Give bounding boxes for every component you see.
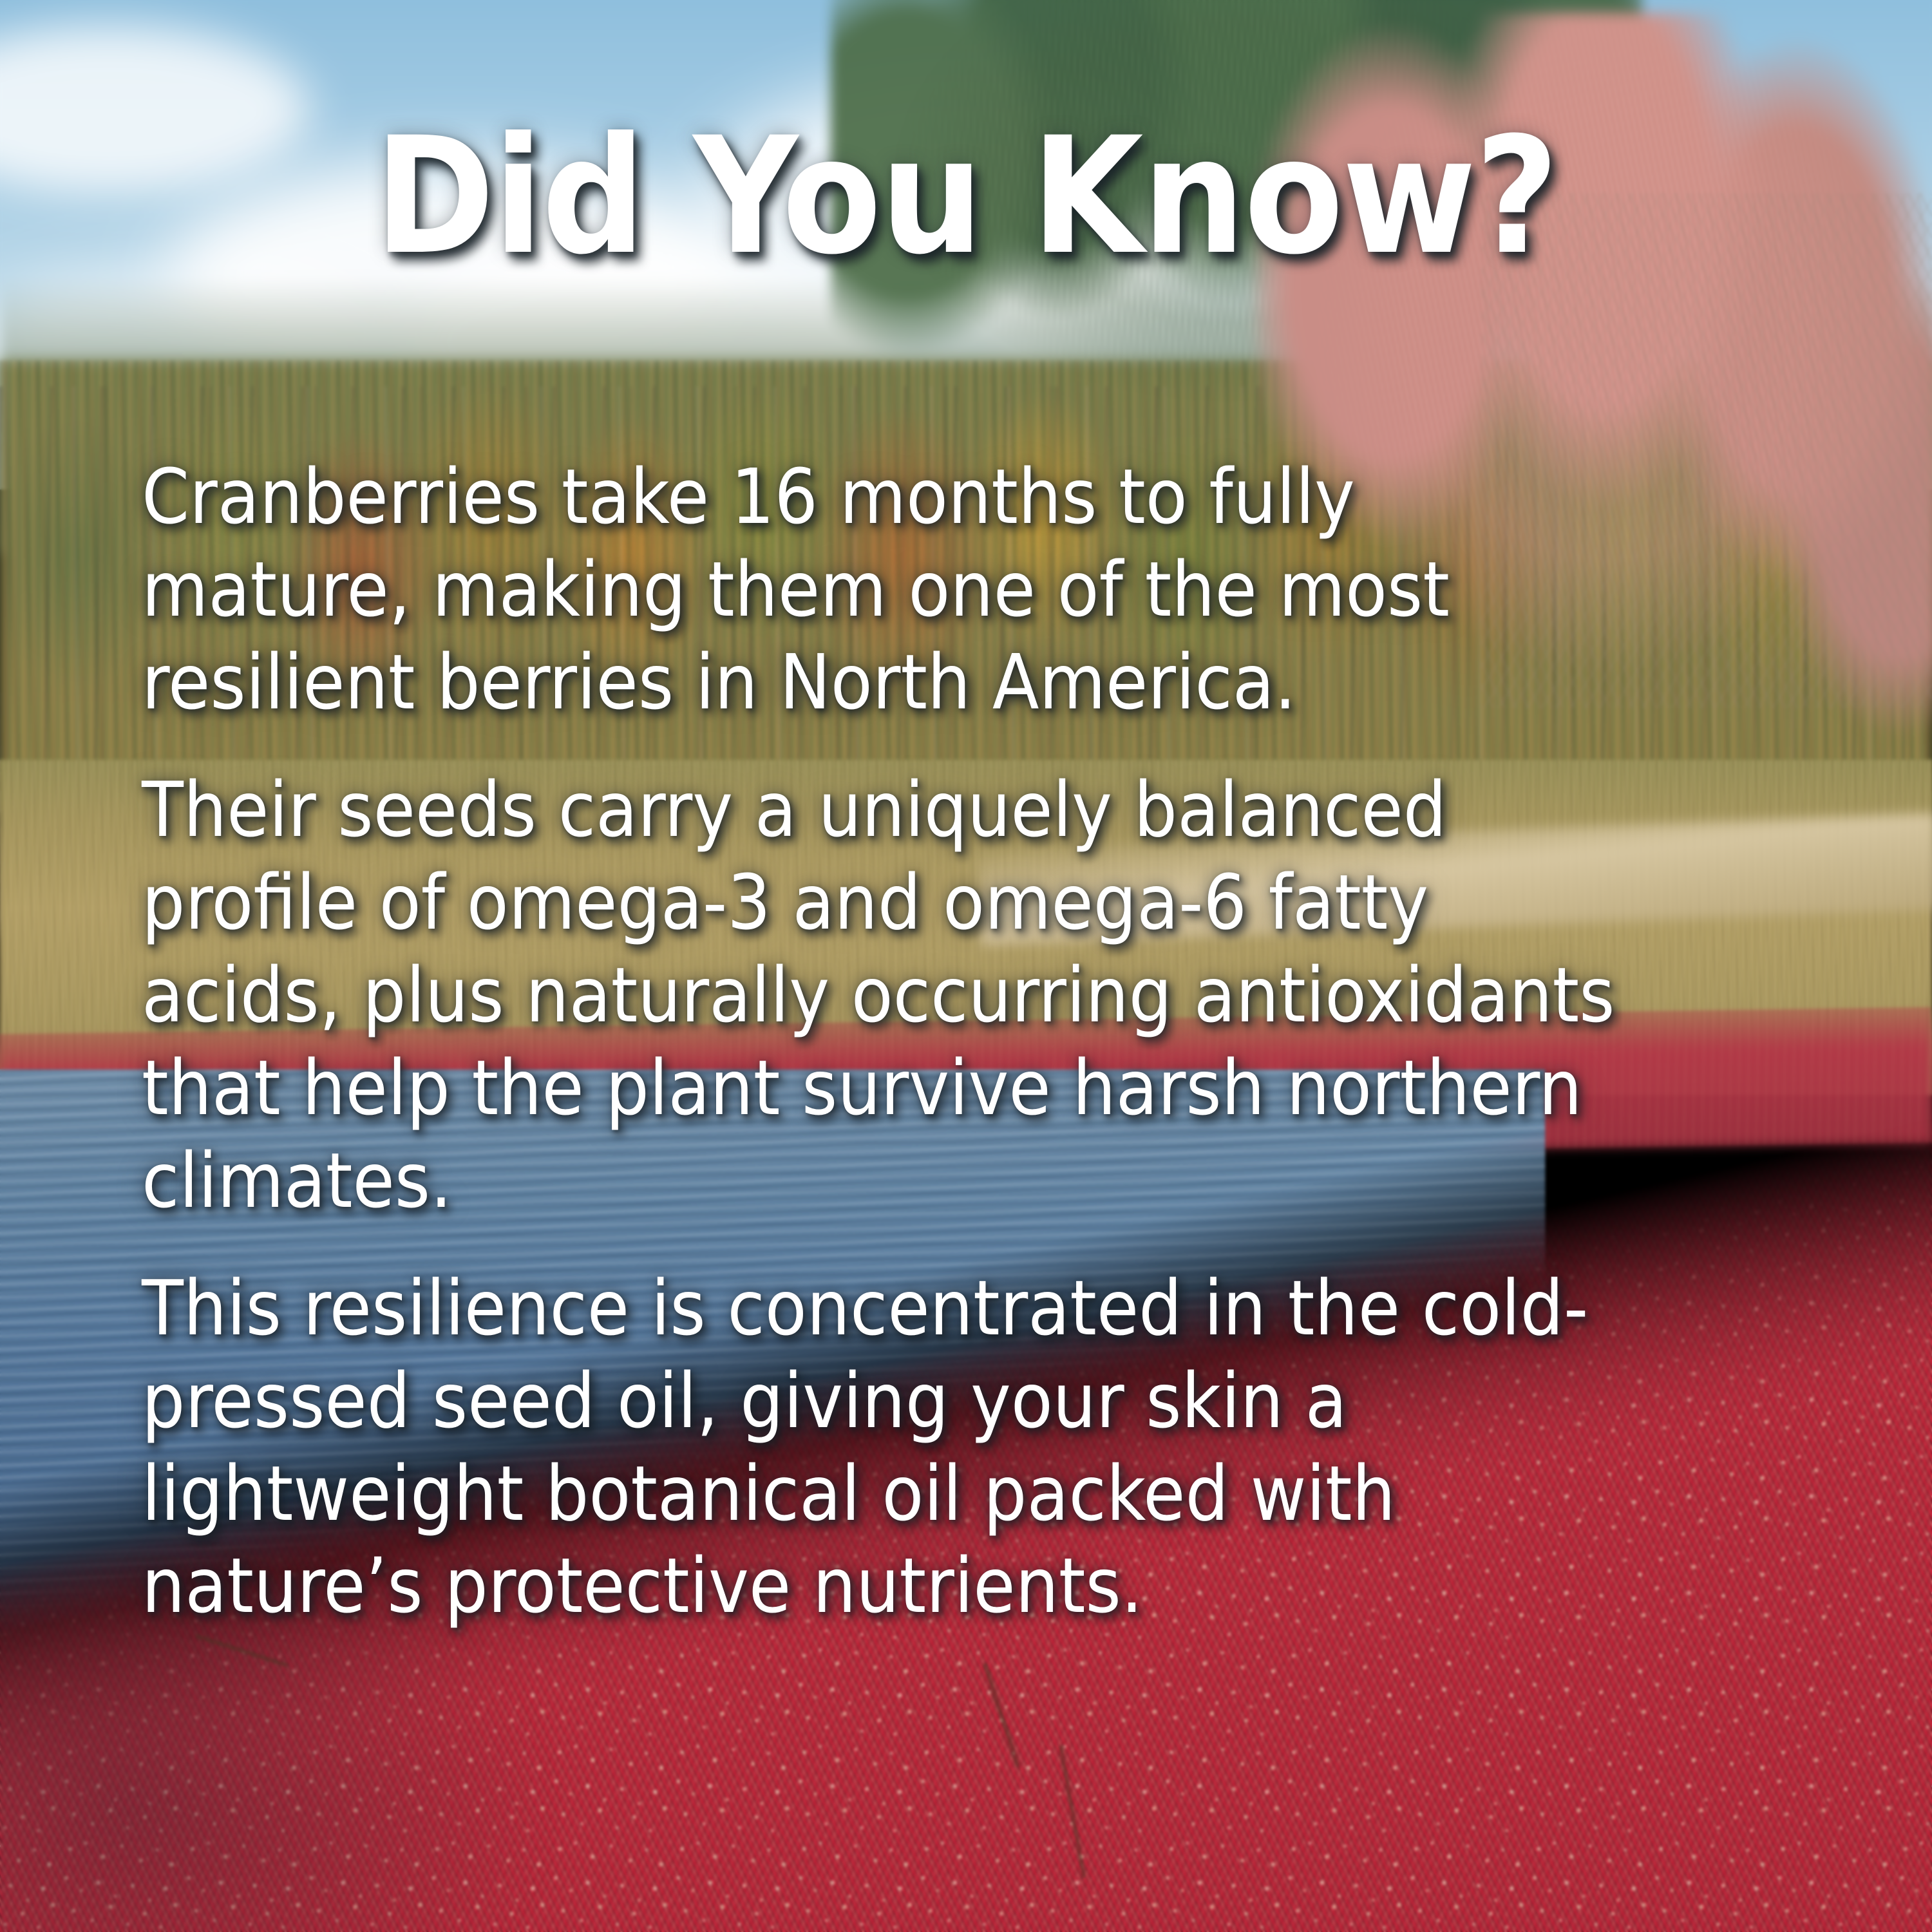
paragraph-2: Their seeds carry a uniquely balanced pr… xyxy=(142,764,1642,1227)
paragraph-1: Cranberries take 16 months to fully matu… xyxy=(142,451,1642,729)
paragraph-3: This resilience is concentrated in the c… xyxy=(142,1262,1687,1633)
poster-content: Did You Know? Cranberries take 16 months… xyxy=(0,0,1932,1932)
body-copy: Cranberries take 16 months to fully matu… xyxy=(142,451,1816,1633)
did-you-know-poster: Did You Know? Cranberries take 16 months… xyxy=(0,0,1932,1932)
page-title: Did You Know? xyxy=(0,116,1932,277)
